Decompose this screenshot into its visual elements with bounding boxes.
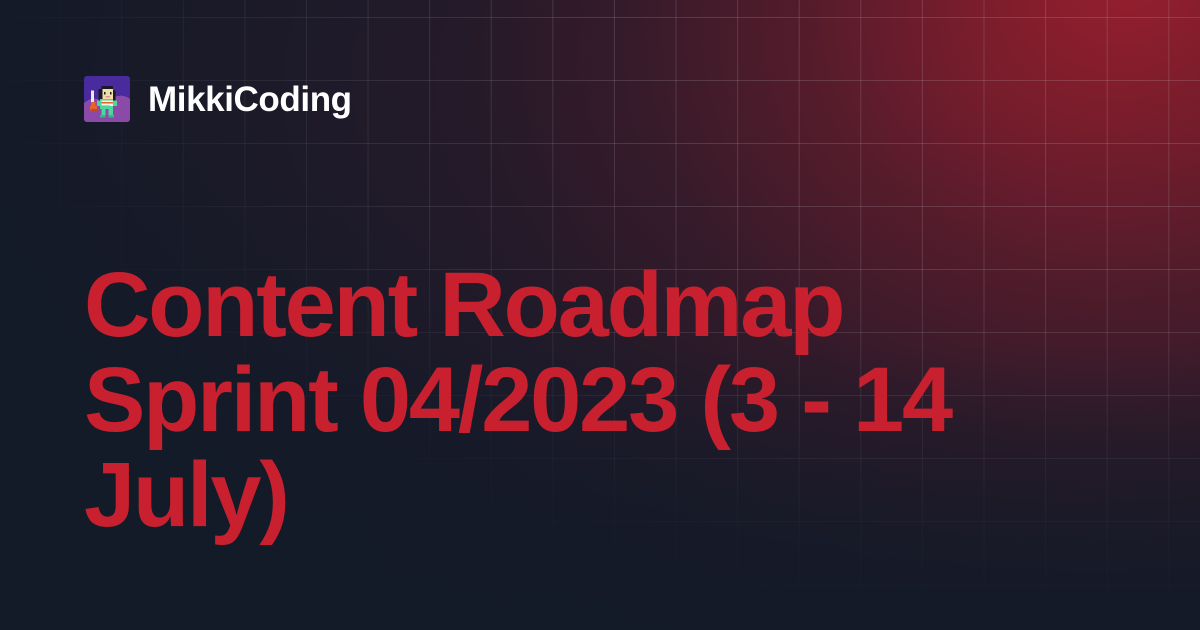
card-content: MikkiCoding Content Roadmap Sprint 04/20… xyxy=(0,0,1200,630)
avatar xyxy=(84,76,130,122)
page-title: Content Roadmap Sprint 04/2023 (3 - 14 J… xyxy=(84,258,1104,543)
brand-row: MikkiCoding xyxy=(84,76,1116,122)
og-preview-card: MikkiCoding Content Roadmap Sprint 04/20… xyxy=(0,0,1200,630)
brand-name: MikkiCoding xyxy=(148,82,352,117)
